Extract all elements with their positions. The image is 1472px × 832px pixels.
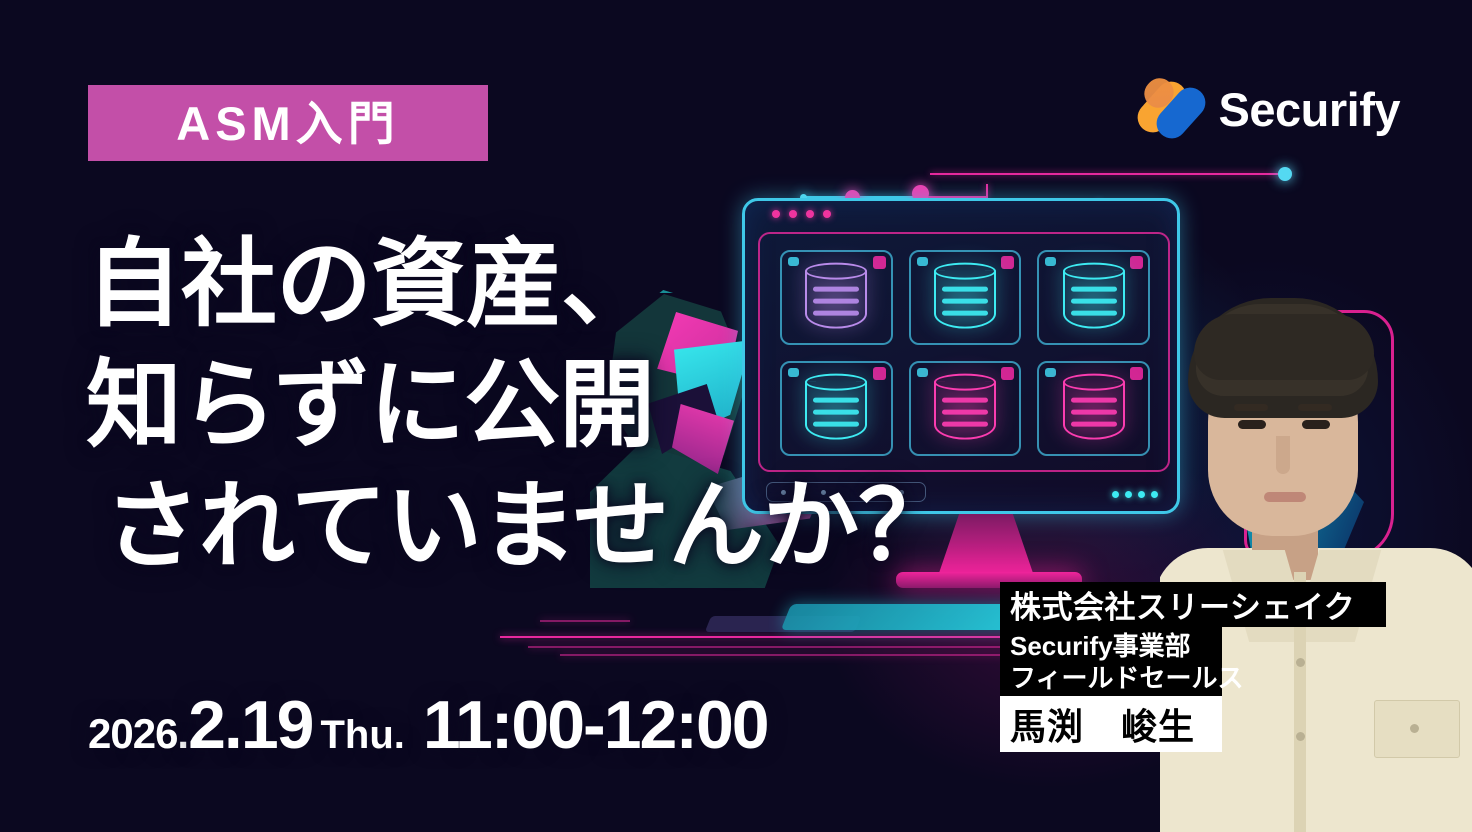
speaker-name: 馬渕 峻生 bbox=[1010, 698, 1195, 750]
event-time: 11:00-12:00 bbox=[423, 686, 768, 764]
window-dots bbox=[772, 210, 831, 218]
headline-line-1: 自社の資産、 bbox=[86, 225, 946, 346]
speaker-name-bar: 馬渕 峻生 bbox=[1000, 696, 1222, 752]
speaker-title-bar: Securify事業部 フィールドセールス bbox=[1000, 627, 1222, 696]
speaker-department: Securify事業部 bbox=[1010, 630, 1222, 662]
speaker-company: 株式会社スリーシェイク bbox=[1010, 582, 1355, 627]
headline-line-3: されていませんか？ bbox=[86, 467, 946, 588]
securify-logo: Securify bbox=[1145, 78, 1400, 140]
securify-logo-mark-icon bbox=[1145, 78, 1201, 140]
event-datetime: 2026. 2.19 Thu. 11:00-12:00 bbox=[88, 686, 768, 764]
database-icon bbox=[1063, 262, 1125, 330]
webinar-banner: ASM入門 Securify 自社の資産、 知らずに公開 されていませんか？ 2… bbox=[0, 0, 1472, 832]
led-indicators bbox=[1112, 491, 1158, 498]
circuit-node-icon bbox=[1278, 167, 1292, 181]
event-year: 2026. bbox=[88, 710, 188, 758]
speaker-company-bar: 株式会社スリーシェイク bbox=[1000, 582, 1386, 627]
event-day: 2.19 bbox=[188, 686, 312, 764]
event-weekday: Thu. bbox=[320, 713, 404, 758]
circuit-trace-magenta bbox=[986, 184, 988, 198]
category-badge-label: ASM入門 bbox=[176, 100, 399, 147]
database-cell bbox=[1037, 250, 1150, 345]
headline: 自社の資産、 知らずに公開 されていませんか？ bbox=[86, 225, 946, 588]
database-icon bbox=[1063, 373, 1125, 441]
database-cell bbox=[1037, 361, 1150, 456]
circuit-trace-magenta bbox=[930, 173, 1290, 175]
bottom-rail bbox=[540, 620, 630, 622]
speaker-role: フィールドセールス bbox=[1010, 662, 1222, 694]
securify-logo-text: Securify bbox=[1219, 82, 1400, 137]
headline-line-2: 知らずに公開 bbox=[86, 346, 946, 467]
category-badge: ASM入門 bbox=[88, 85, 488, 161]
